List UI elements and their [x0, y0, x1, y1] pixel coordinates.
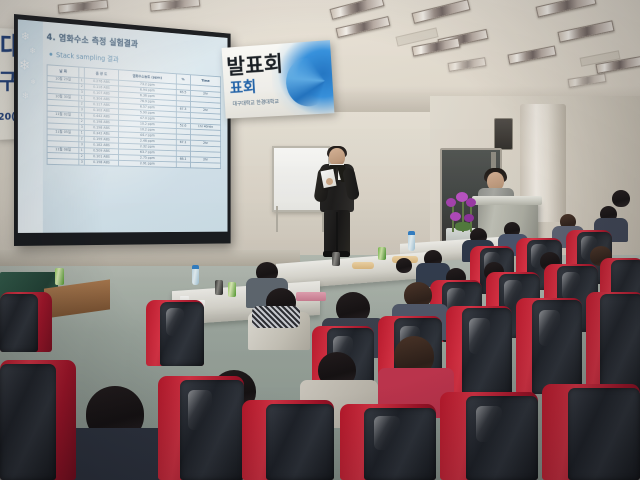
projection-screen: ❄ ❄ ❄ ❄ ❄ 4. 염화수소 측정 실험결과 Stack sampling…	[14, 14, 231, 246]
seat	[340, 404, 436, 480]
audience-body	[62, 428, 166, 480]
banner-right-line2: 표회	[229, 79, 257, 95]
orchid-bloom	[464, 214, 474, 222]
orchid-bloom	[450, 212, 461, 221]
beverage-can	[228, 282, 236, 297]
seat	[440, 392, 538, 480]
seat	[0, 292, 52, 352]
audience-head	[612, 190, 630, 207]
presenter-leg-split	[336, 212, 338, 254]
pink-tray	[296, 292, 326, 301]
whiteboard-leg	[276, 206, 278, 232]
wall-speaker-icon	[494, 118, 513, 150]
presenter-hand	[326, 178, 333, 185]
banner-right-line1: 발표회	[226, 54, 284, 79]
seat	[542, 384, 640, 480]
projected-slide: ❄ ❄ ❄ ❄ ❄ 4. 염화수소 측정 실험결과 Stack sampling…	[18, 19, 228, 233]
banner-right: 발표회 표회 대구대학교 한경대학교	[222, 40, 335, 119]
seat	[586, 292, 640, 392]
wall-ledge	[0, 250, 300, 266]
snack-plate	[352, 262, 374, 269]
screen-glare	[18, 19, 228, 233]
seat	[516, 298, 582, 394]
water-bottle	[408, 234, 415, 251]
seat	[0, 360, 76, 480]
beverage-can	[378, 247, 386, 260]
seat	[242, 400, 334, 480]
lecture-hall-photo: 대 구 · 20(금) ❄ ❄ ❄ ❄ ❄ 4. 염화수소 측정 실험결과 St…	[0, 0, 640, 480]
orchid-bloom	[466, 198, 476, 207]
water-bottle	[192, 268, 199, 285]
bottle-cap	[408, 231, 415, 235]
banner-right-line3: 대구대학교 한경대학교	[232, 98, 279, 107]
seat	[446, 306, 512, 396]
audience-head	[396, 258, 412, 273]
beverage-can	[55, 268, 64, 285]
lectern-top	[472, 196, 542, 205]
orchid-bloom	[446, 198, 456, 207]
presenter	[312, 148, 362, 256]
orchid-leaf	[455, 222, 471, 231]
checked-garment	[252, 306, 300, 328]
beverage-can	[332, 252, 340, 266]
bottle-cap	[192, 265, 199, 269]
seat	[158, 376, 244, 480]
seat	[146, 300, 204, 366]
beverage-can	[215, 280, 223, 295]
